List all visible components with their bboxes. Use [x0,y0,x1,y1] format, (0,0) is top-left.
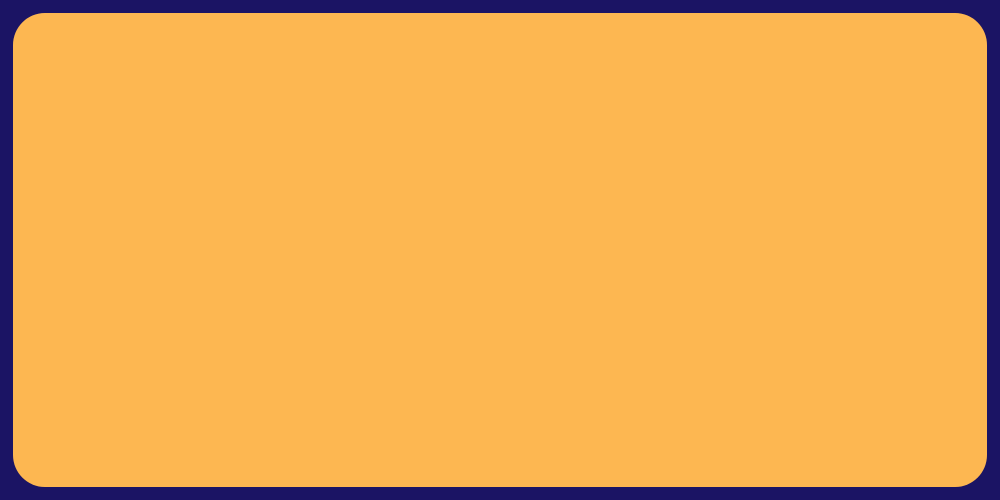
article-title-card: Cuscini memory: la soluzione per insonni… [13,13,987,487]
banner-frame: Cuscini memory: la soluzione per insonni… [0,0,1000,500]
